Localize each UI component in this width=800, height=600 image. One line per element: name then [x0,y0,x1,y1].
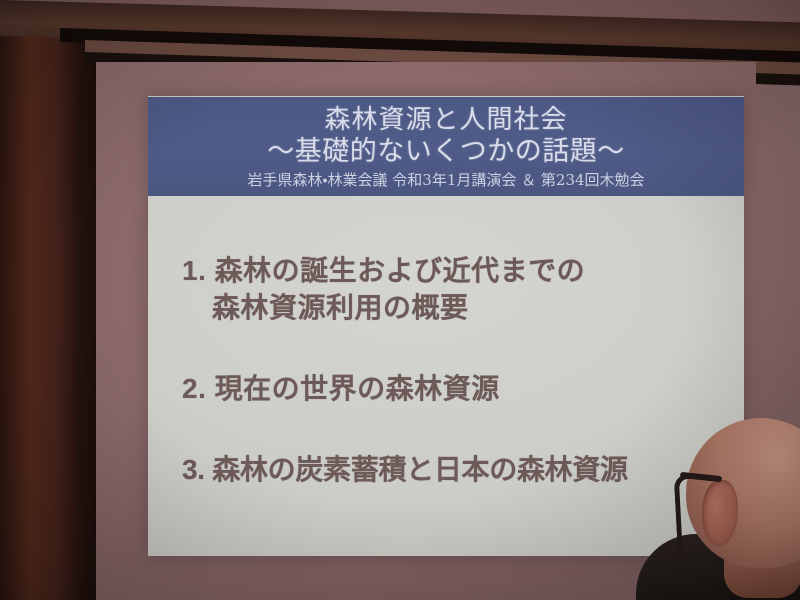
slide-agenda-list: 1. 森林の誕生および近代までの 森林資源利用の概要 2. 現在の世界の森林資源… [148,200,744,556]
wood-panel-left [0,22,76,600]
agenda-item-2-line-1: 現在の世界の森林資源 [215,373,500,404]
agenda-item-1: 1. 森林の誕生および近代までの 森林資源利用の概要 [182,252,726,326]
slide-title-line-2: 〜基礎的ないくつかの話題〜 [148,135,744,168]
screenshot-root: 森林資源と人間社会 〜基礎的ないくつかの話題〜 岩手県森林・林業会議 令和3年1… [0,0,800,600]
presentation-slide: 森林資源と人間社会 〜基礎的ないくつかの話題〜 岩手県森林・林業会議 令和3年1… [148,96,744,556]
agenda-item-2: 2. 現在の世界の森林資源 [182,370,726,407]
agenda-item-3-number: 3. [182,454,205,485]
agenda-item-1-line-1: 森林の誕生および近代までの [215,255,586,286]
agenda-item-3: 3. 森林の炭素蓄積と日本の森林資源 [182,451,726,488]
slide-title-band: 森林資源と人間社会 〜基礎的ないくつかの話題〜 岩手県森林・林業会議 令和3年1… [148,97,744,196]
agenda-item-2-number: 2. [182,373,206,404]
slide-title-line-1: 森林資源と人間社会 [148,103,744,135]
agenda-item-3-line-1: 森林の炭素蓄積と日本の森林資源 [212,454,628,485]
agenda-item-1-line-2: 森林資源利用の概要 [182,289,726,326]
slide-subtitle: 岩手県森林・林業会議 令和3年1月講演会 ＆ 第234回木勉会 [148,169,744,191]
agenda-item-1-number: 1. [182,255,206,286]
